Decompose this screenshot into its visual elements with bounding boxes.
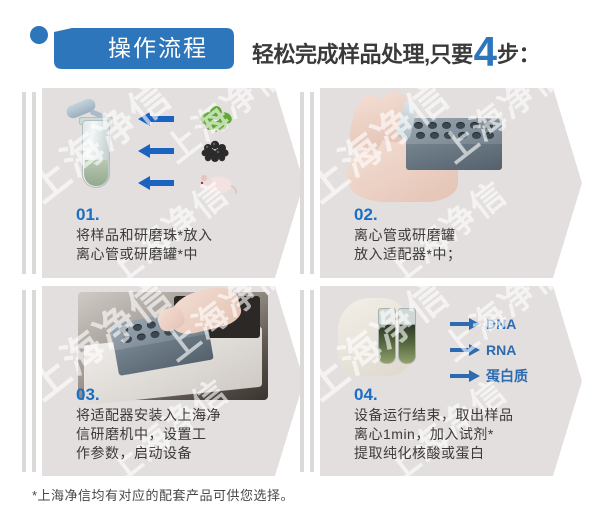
panel-body: 上海净信 上海净信 上海净信 03. 将适配器安装入上海净 信研磨机中，设置工 … xyxy=(42,286,304,476)
grinder-machine-icon xyxy=(78,292,268,400)
mouse-icon xyxy=(194,170,238,196)
panel-body: DNA RNA 蛋白质 xyxy=(320,286,582,476)
output-tag-label: RNA xyxy=(486,342,516,358)
arrow-left-icon xyxy=(138,144,174,158)
hand-holding-adapter-icon xyxy=(320,88,582,206)
page-header: 操作流程 轻松完成样品处理,只要 4 步： xyxy=(0,0,600,88)
output-tag-label: 蛋白质 xyxy=(486,366,528,386)
arrow-right-icon xyxy=(450,370,480,382)
sample-row-beads xyxy=(138,140,288,162)
panel-stripe xyxy=(32,92,36,274)
panel-body: 上海净信 上海净信 上海净信 02. 离心管或研磨罐 放入适配器*中； xyxy=(320,88,582,278)
step-description: 将样品和研磨珠*放入 离心管或研磨罐*中 xyxy=(76,226,291,264)
headline-prefix: 轻松完成样品处理,只要 xyxy=(252,40,473,70)
arrow-left-icon xyxy=(138,176,174,190)
panel-stripe xyxy=(300,290,304,472)
leaf-icon xyxy=(194,106,238,132)
step-panel-3: 上海净信 上海净信 上海净信 03. 将适配器安装入上海净 信研磨机中，设置工 … xyxy=(22,286,307,476)
arrow-left-icon xyxy=(138,112,174,126)
step-description: 设备运行结束，取出样品 离心1min，加入试剂* 提取纯化核酸或蛋白 xyxy=(354,406,569,463)
section-badge-label: 操作流程 xyxy=(82,32,234,65)
headline-number: 4 xyxy=(474,34,496,70)
step-panel-1: 上海净信 上海净信 上海净信 01. 将样品和研磨珠*放入 离心管或研磨罐*中 xyxy=(22,88,307,278)
panel-body: 上海净信 上海净信 上海净信 01. 将样品和研磨珠*放入 离心管或研磨罐*中 xyxy=(42,88,304,278)
sample-vial-icon xyxy=(398,308,416,364)
sample-row-leaf xyxy=(138,108,288,130)
step-description: 离心管或研磨罐 放入适配器*中； xyxy=(354,226,569,264)
headline: 轻松完成样品处理,只要 4 步： xyxy=(252,30,540,70)
centrifuge-tube-icon xyxy=(64,98,128,198)
step-panel-4: DNA RNA 蛋白质 xyxy=(300,286,585,476)
headline-suffix: 步： xyxy=(497,40,540,70)
output-tag-rna: RNA xyxy=(450,340,580,360)
panel-stripe xyxy=(310,290,314,472)
step-number: 04. xyxy=(354,386,554,404)
panel-illustration-tube-samples xyxy=(42,88,304,206)
arrow-right-icon xyxy=(450,318,480,330)
step-number: 02. xyxy=(354,206,554,224)
steps-grid: 上海净信 上海净信 上海净信 01. 将样品和研磨珠*放入 离心管或研磨罐*中 xyxy=(0,88,600,478)
footnote: *上海净信均有对应的配套产品可供您选择。 xyxy=(32,487,552,505)
arrow-right-icon xyxy=(450,344,480,356)
step-description: 将适配器安装入上海净 信研磨机中，设置工 作参数，启动设备 xyxy=(76,406,291,463)
panel-illustration-hand-adapter xyxy=(320,88,582,206)
sample-vial-icon xyxy=(378,308,396,364)
panel-stripe xyxy=(300,92,304,274)
output-tag-protein: 蛋白质 xyxy=(450,366,580,386)
circle-dot-icon xyxy=(30,26,48,44)
step-number: 01. xyxy=(76,206,276,224)
adapter-block-icon xyxy=(406,118,502,170)
adapter-top-face xyxy=(406,118,502,144)
panel-stripe xyxy=(22,290,26,472)
sample-row-mouse xyxy=(138,172,288,194)
output-tag-dna: DNA xyxy=(450,314,580,334)
panel-stripe xyxy=(310,92,314,274)
output-tag-label: DNA xyxy=(486,316,516,332)
grinding-beads-icon xyxy=(194,138,238,164)
infographic-page: 操作流程 轻松完成样品处理,只要 4 步： xyxy=(0,0,600,525)
panel-stripe xyxy=(32,290,36,472)
step-panel-2: 上海净信 上海净信 上海净信 02. 离心管或研磨罐 放入适配器*中； xyxy=(300,88,585,278)
panel-stripe xyxy=(22,92,26,274)
step-number: 03. xyxy=(76,386,276,404)
tube-liquid-icon xyxy=(84,160,108,186)
